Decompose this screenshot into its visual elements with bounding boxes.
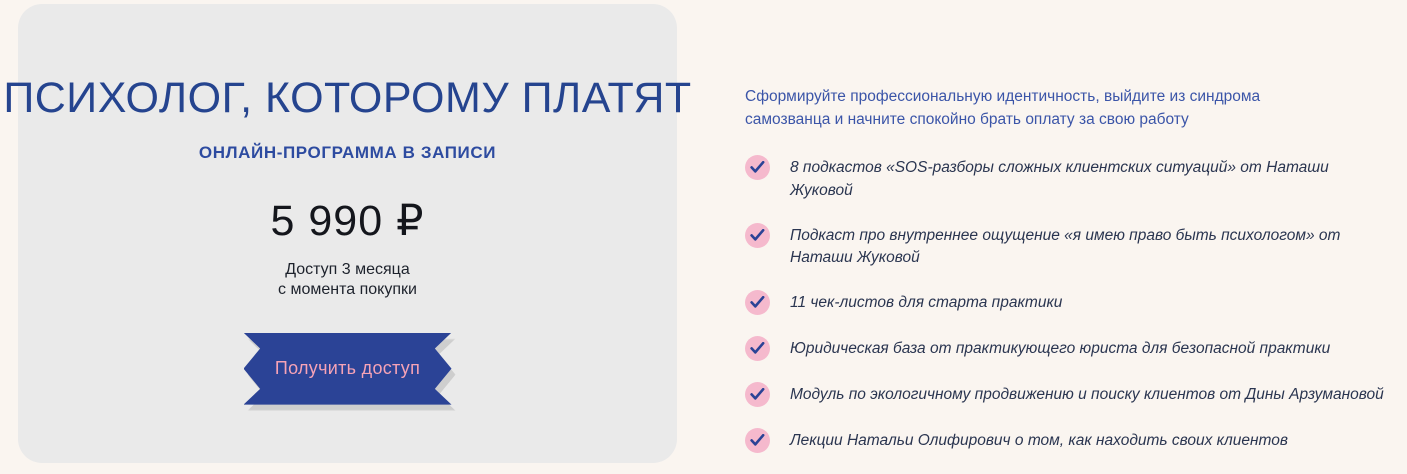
check-icon — [745, 155, 770, 180]
list-item-label: 11 чек-листов для старта практики — [790, 290, 1062, 315]
benefits-list: 8 подкастов «SOS-разборы сложных клиентс… — [745, 155, 1395, 474]
list-item-label: 8 подкастов «SOS-разборы сложных клиентс… — [790, 155, 1395, 203]
access-note-line2: с момента покупки — [278, 280, 417, 300]
cta-button-wrapper: Получить доступ — [244, 333, 452, 405]
page-title: ПСИХОЛОГ, КОТОРОМУ ПЛАТЯТ — [3, 76, 691, 121]
access-note: Доступ 3 месяца с момента покупки — [278, 260, 417, 301]
list-item: 8 подкастов «SOS-разборы сложных клиентс… — [745, 155, 1395, 203]
list-item-label: Подкаст про внутреннее ощущение «я имею … — [790, 223, 1395, 271]
check-icon — [745, 382, 770, 407]
offer-subtitle: ОНЛАЙН-ПРОГРАММА В ЗАПИСИ — [199, 143, 496, 163]
check-icon — [745, 290, 770, 315]
check-icon — [745, 428, 770, 453]
list-item-label: Лекции Натальи Олифирович о том, как нах… — [790, 428, 1288, 453]
list-item: 11 чек-листов для старта практики — [745, 290, 1395, 316]
access-note-line1: Доступ 3 месяца — [278, 260, 417, 280]
check-icon — [745, 223, 770, 248]
offer-card: ПСИХОЛОГ, КОТОРОМУ ПЛАТЯТ ОНЛАЙН-ПРОГРАМ… — [18, 4, 677, 463]
benefits-panel: Сформируйте профессиональную идентичност… — [745, 0, 1395, 469]
list-item-label: Юридическая база от практикующего юриста… — [790, 336, 1330, 361]
get-access-button[interactable]: Получить доступ — [244, 333, 452, 405]
check-icon — [745, 336, 770, 361]
list-item: Модуль по экологичному продвижению и пои… — [745, 382, 1395, 408]
get-access-button-label: Получить доступ — [275, 358, 420, 379]
list-item: Подкаст про внутреннее ощущение «я имею … — [745, 223, 1395, 271]
price-value: 5 990 ₽ — [271, 196, 425, 246]
offer-card-content: ПСИХОЛОГ, КОТОРОМУ ПЛАТЯТ ОНЛАЙН-ПРОГРАМ… — [18, 4, 677, 463]
list-item-label: Модуль по экологичному продвижению и пои… — [790, 382, 1384, 407]
promo-page: ПСИХОЛОГ, КОТОРОМУ ПЛАТЯТ ОНЛАЙН-ПРОГРАМ… — [0, 0, 1407, 469]
benefits-intro-text: Сформируйте профессиональную идентичност… — [745, 85, 1285, 132]
list-item: Юридическая база от практикующего юриста… — [745, 336, 1395, 362]
list-item: Лекции Натальи Олифирович о том, как нах… — [745, 428, 1395, 454]
